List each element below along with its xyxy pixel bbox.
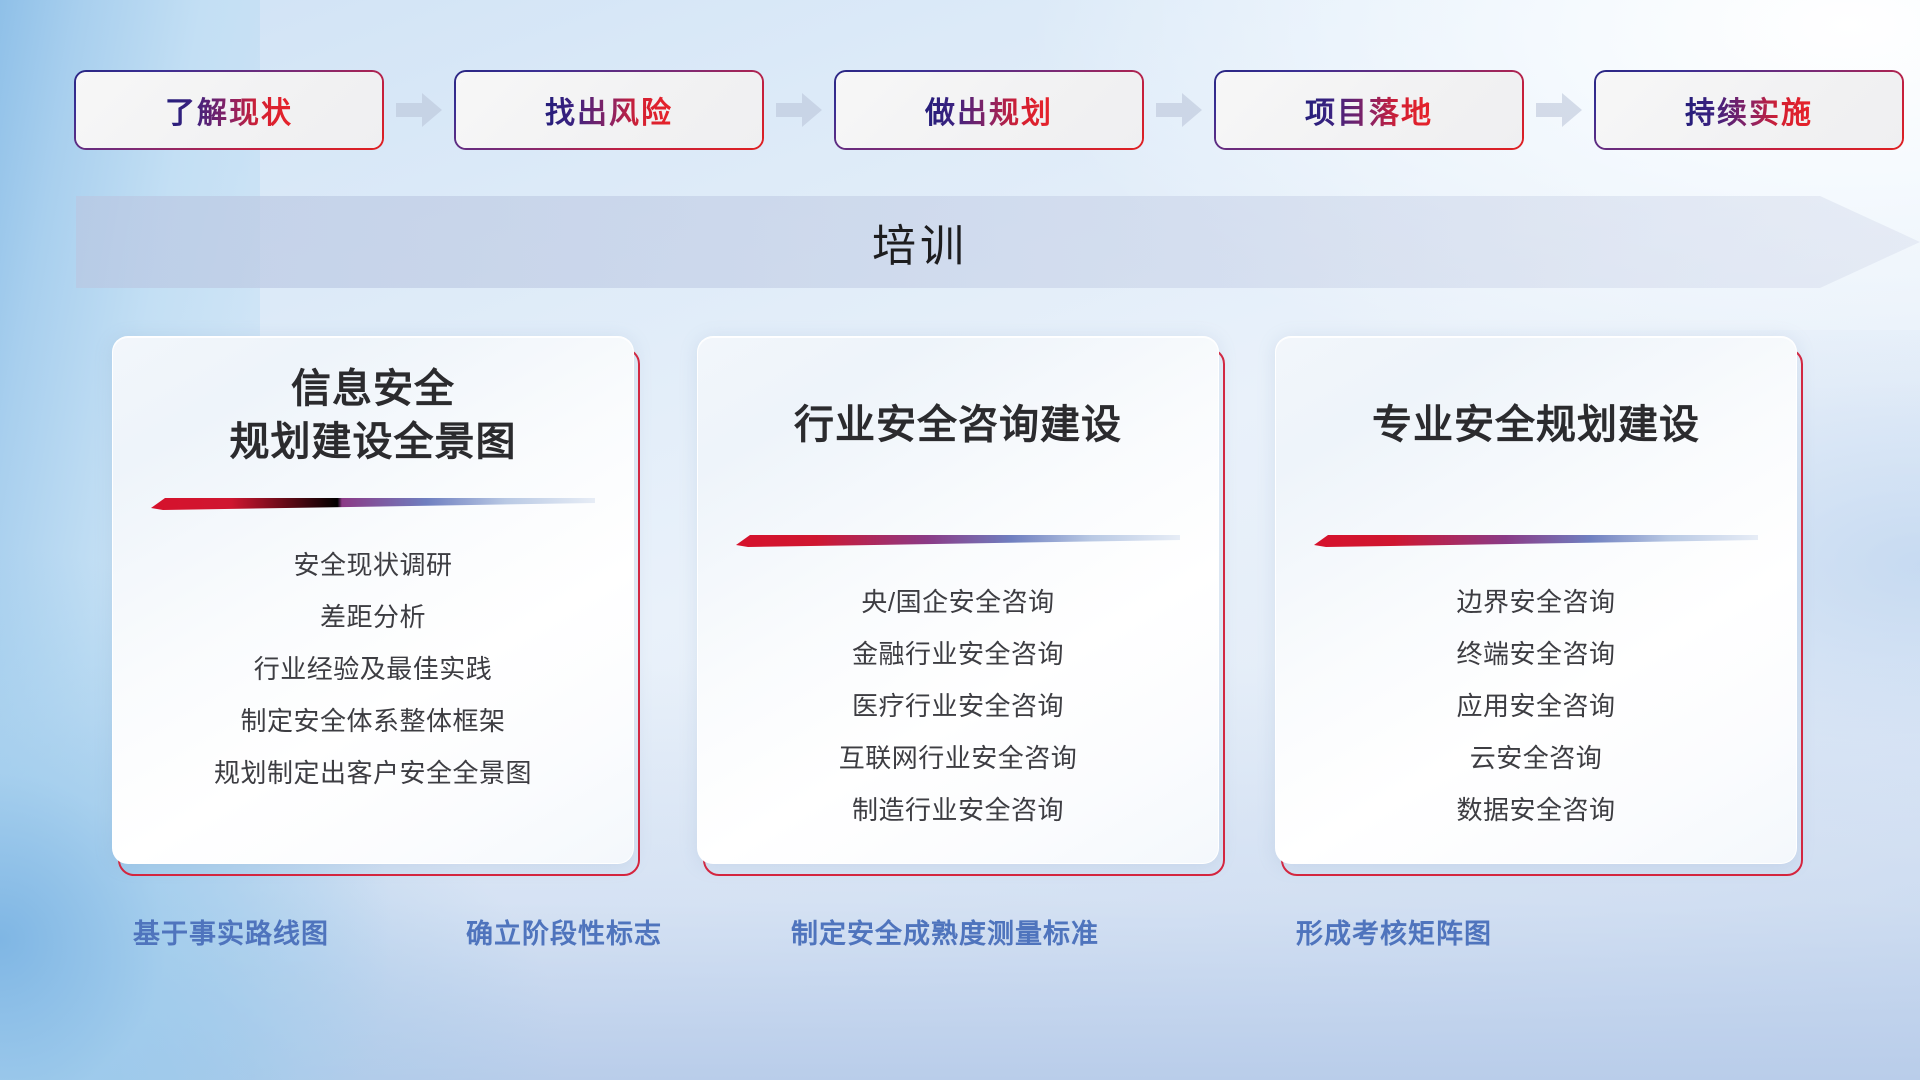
card-1-title: 信息安全 规划建设全景图 bbox=[113, 363, 633, 469]
list-item: 行业经验及最佳实践 bbox=[254, 643, 493, 695]
bottom-label-1: 基于事实路线图 bbox=[133, 912, 329, 951]
card-1-title-line-2: 规划建设全景图 bbox=[113, 416, 633, 469]
step-box-3[interactable]: 做出规划 bbox=[836, 72, 1142, 148]
list-item: 云安全咨询 bbox=[1470, 732, 1603, 784]
card-1-divider bbox=[151, 495, 595, 513]
card-1-list: 安全现状调研 差距分析 行业经验及最佳实践 制定安全体系整体框架 规划制定出客户… bbox=[113, 539, 633, 799]
card-3-divider bbox=[1314, 532, 1758, 550]
bottom-label-4: 形成考核矩阵图 bbox=[1296, 912, 1492, 951]
step-box-1[interactable]: 了解现状 bbox=[76, 72, 382, 148]
card-2-divider bbox=[736, 532, 1180, 550]
card-3[interactable]: 专业安全规划建设 bbox=[1275, 336, 1803, 876]
step-label-3: 做出规划 bbox=[925, 88, 1053, 132]
bottom-label-2: 确立阶段性标志 bbox=[466, 912, 662, 951]
list-item: 制定安全体系整体框架 bbox=[240, 695, 505, 747]
band-title: 培训 bbox=[0, 196, 1920, 288]
list-item: 终端安全咨询 bbox=[1456, 628, 1615, 680]
step-box-2[interactable]: 找出风险 bbox=[456, 72, 762, 148]
card-3-title: 专业安全规划建设 bbox=[1276, 399, 1796, 452]
list-item: 央/国企安全咨询 bbox=[861, 576, 1054, 628]
list-item: 安全现状调研 bbox=[293, 539, 452, 591]
arrow-right-icon bbox=[396, 93, 442, 127]
process-step-flow: 了解现状 找出风险 做出规划 项目落地 持续实施 bbox=[0, 70, 1920, 150]
list-item: 应用安全咨询 bbox=[1456, 680, 1615, 732]
list-item: 互联网行业安全咨询 bbox=[839, 732, 1078, 784]
step-label-2: 找出风险 bbox=[545, 88, 673, 132]
step-label-5: 持续实施 bbox=[1685, 88, 1813, 132]
card-3-list: 边界安全咨询 终端安全咨询 应用安全咨询 云安全咨询 数据安全咨询 bbox=[1276, 576, 1796, 836]
card-3-title-line-1: 专业安全规划建设 bbox=[1276, 399, 1796, 452]
card-2-title: 行业安全咨询建设 bbox=[698, 399, 1218, 452]
card-3-body: 专业安全规划建设 bbox=[1275, 336, 1797, 864]
arrow-right-icon bbox=[776, 93, 822, 127]
list-item: 金融行业安全咨询 bbox=[852, 628, 1064, 680]
band-title-text: 培训 bbox=[872, 210, 968, 274]
card-2-title-line-1: 行业安全咨询建设 bbox=[698, 399, 1218, 452]
card-2-list: 央/国企安全咨询 金融行业安全咨询 医疗行业安全咨询 互联网行业安全咨询 制造行… bbox=[698, 576, 1218, 836]
bottom-label-3: 制定安全成熟度测量标准 bbox=[791, 912, 1099, 951]
card-1[interactable]: 信息安全 规划建设全景图 bbox=[112, 336, 640, 876]
step-box-5[interactable]: 持续实施 bbox=[1596, 72, 1902, 148]
list-item: 制造行业安全咨询 bbox=[852, 784, 1064, 836]
card-1-title-line-1: 信息安全 bbox=[113, 363, 633, 416]
list-item: 规划制定出客户安全全景图 bbox=[214, 747, 532, 799]
list-item: 数据安全咨询 bbox=[1456, 784, 1615, 836]
bottom-label-row: 基于事实路线图 确立阶段性标志 制定安全成熟度测量标准 形成考核矩阵图 bbox=[0, 912, 1920, 956]
card-2[interactable]: 行业安全咨询建设 bbox=[697, 336, 1225, 876]
card-1-body: 信息安全 规划建设全景图 bbox=[112, 336, 634, 864]
arrow-right-icon bbox=[1536, 93, 1582, 127]
step-box-4[interactable]: 项目落地 bbox=[1216, 72, 1522, 148]
arrow-right-icon bbox=[1156, 93, 1202, 127]
step-label-1: 了解现状 bbox=[165, 88, 293, 132]
card-2-body: 行业安全咨询建设 bbox=[697, 336, 1219, 864]
list-item: 边界安全咨询 bbox=[1456, 576, 1615, 628]
step-label-4: 项目落地 bbox=[1305, 88, 1433, 132]
list-item: 医疗行业安全咨询 bbox=[852, 680, 1064, 732]
card-group: 信息安全 规划建设全景图 bbox=[0, 336, 1920, 876]
list-item: 差距分析 bbox=[320, 591, 426, 643]
